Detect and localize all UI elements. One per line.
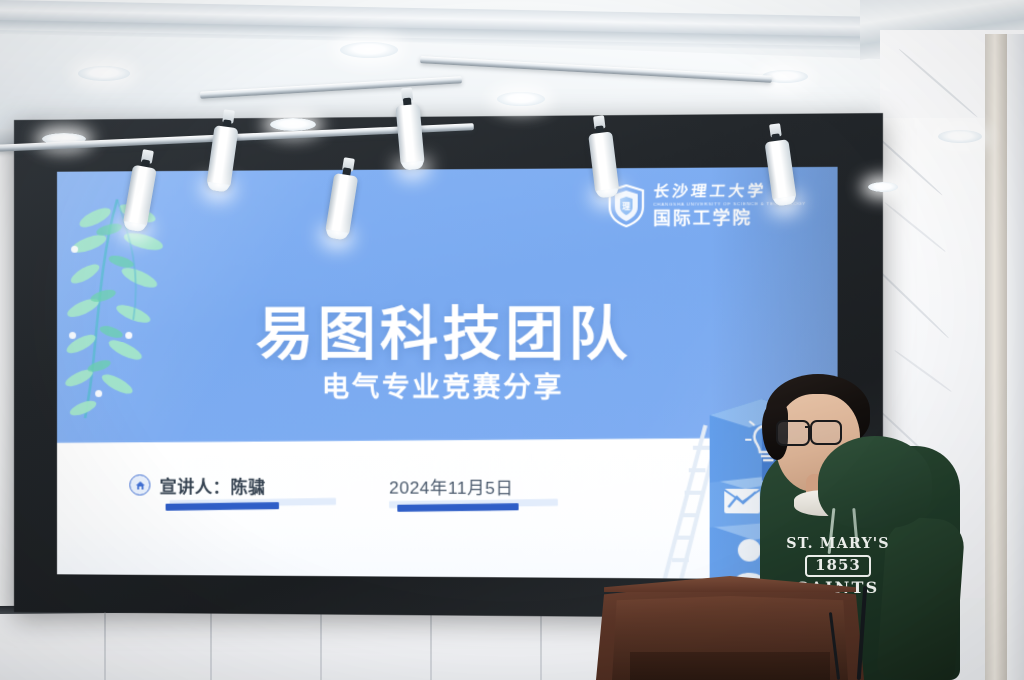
downlight-3 bbox=[270, 118, 316, 131]
wall-trim-strip bbox=[985, 34, 1007, 680]
downlight-7 bbox=[938, 130, 982, 143]
eyeglasses-right-lens bbox=[810, 420, 842, 445]
downlight-2 bbox=[340, 42, 398, 58]
presentation-room-scene: 理 长沙理工大学 CHANGSHA UNIVERSITY OF SCIENCE … bbox=[0, 0, 1024, 680]
slide-canvas: 理 长沙理工大学 CHANGSHA UNIVERSITY OF SCIENCE … bbox=[57, 167, 838, 580]
eyeglasses-bridge bbox=[805, 426, 812, 428]
eyeglasses bbox=[776, 420, 810, 446]
presenter-label: 宣讲人：陈骕 bbox=[160, 473, 266, 499]
wall-right-edge bbox=[1007, 34, 1024, 680]
home-circle-icon bbox=[129, 474, 150, 495]
presentation-date: 2024年11月5日 bbox=[389, 473, 513, 499]
presenter-block: 宣讲人：陈骕 bbox=[129, 472, 265, 498]
svg-text:理: 理 bbox=[622, 202, 630, 211]
downlight-5 bbox=[497, 92, 545, 106]
presenter-underline-accent bbox=[166, 502, 280, 511]
hood bbox=[818, 436, 932, 528]
slide-title-block: 易图科技团队 电气专业竞赛分享 bbox=[57, 305, 838, 402]
date-block: 2024年11月5日 bbox=[389, 473, 513, 499]
slide-title: 易图科技团队 bbox=[57, 305, 838, 364]
date-underline-accent bbox=[397, 503, 518, 512]
podium-base bbox=[630, 652, 830, 680]
logo-college-name: 国际工学院 bbox=[653, 209, 806, 227]
downlight-8 bbox=[868, 182, 898, 192]
downlight-1 bbox=[78, 66, 130, 81]
hoodie-sleeve bbox=[876, 515, 965, 680]
